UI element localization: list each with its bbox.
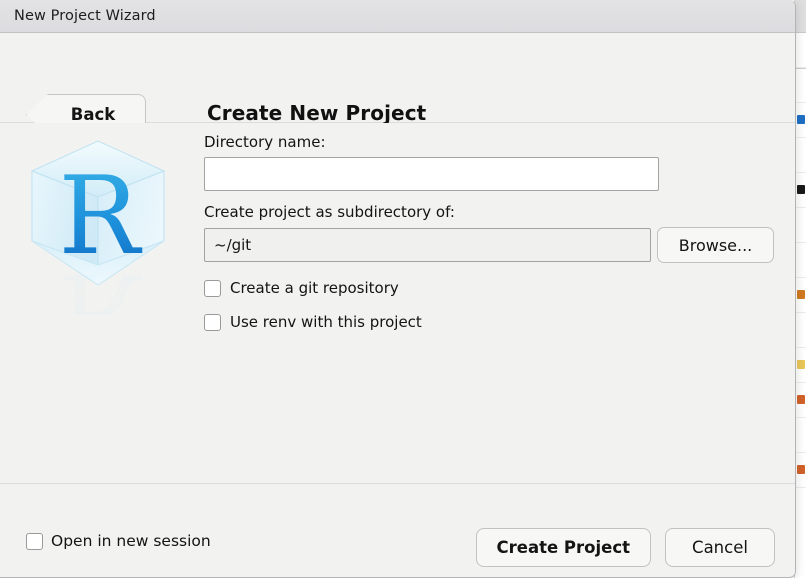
list-item-icon xyxy=(797,395,805,404)
background-window-titlebar xyxy=(795,0,806,33)
dialog-titlebar: New Project Wizard xyxy=(0,0,795,33)
directory-name-label: Directory name: xyxy=(204,133,774,151)
r-project-cube-icon: R R xyxy=(20,135,178,315)
subdirectory-row: ~/git Browse... xyxy=(204,227,774,263)
create-project-button-label: Create Project xyxy=(497,538,630,557)
background-list-row xyxy=(795,138,806,173)
background-list-row xyxy=(795,383,806,418)
list-item-icon xyxy=(797,185,805,194)
background-list-row xyxy=(795,68,806,103)
list-item-icon xyxy=(797,290,805,299)
background-list-row xyxy=(795,313,806,348)
background-list-row xyxy=(795,173,806,208)
use-renv-label: Use renv with this project xyxy=(230,313,422,331)
directory-name-input[interactable] xyxy=(204,157,659,191)
create-git-repository-label: Create a git repository xyxy=(230,279,399,297)
background-list-row xyxy=(795,243,806,278)
browse-button[interactable]: Browse... xyxy=(657,227,774,263)
page-title: Create New Project xyxy=(207,101,426,125)
dialog-title: New Project Wizard xyxy=(14,8,156,24)
create-project-button[interactable]: Create Project xyxy=(476,528,651,567)
open-in-new-session-label: Open in new session xyxy=(51,532,211,550)
dialog-content: R R Directory name: Create project as su… xyxy=(0,123,795,484)
use-renv-checkbox[interactable] xyxy=(204,314,221,331)
background-list-row xyxy=(795,278,806,313)
back-button-label: Back xyxy=(57,105,115,124)
background-list-row xyxy=(795,348,806,383)
project-form: Directory name: Create project as subdir… xyxy=(204,133,774,331)
open-in-new-session-row[interactable]: Open in new session xyxy=(26,532,211,550)
subdirectory-label: Create project as subdirectory of: xyxy=(204,203,774,221)
list-item-icon xyxy=(797,360,805,369)
subdirectory-path-field[interactable]: ~/git xyxy=(204,228,651,262)
footer-button-group: Create Project Cancel xyxy=(476,528,775,567)
browse-button-label: Browse... xyxy=(679,236,753,255)
background-list-row xyxy=(795,453,806,488)
create-git-repository-checkbox[interactable] xyxy=(204,280,221,297)
background-list-row xyxy=(795,33,806,68)
open-in-new-session-checkbox[interactable] xyxy=(26,533,43,550)
dialog-header: Back Create New Project xyxy=(0,33,795,123)
dialog-footer: Open in new session Create Project Cance… xyxy=(0,484,795,576)
cancel-button[interactable]: Cancel xyxy=(665,528,775,567)
list-item-icon xyxy=(797,465,805,474)
background-list-row xyxy=(795,103,806,138)
cancel-button-label: Cancel xyxy=(692,538,748,557)
background-list-row xyxy=(795,208,806,243)
new-project-wizard-dialog: New Project Wizard Back Create New Proje… xyxy=(0,0,796,578)
use-renv-checkbox-row[interactable]: Use renv with this project xyxy=(204,313,422,331)
create-git-repository-checkbox-row[interactable]: Create a git repository xyxy=(204,279,399,297)
background-list-row xyxy=(795,418,806,453)
list-item-icon xyxy=(797,115,805,124)
